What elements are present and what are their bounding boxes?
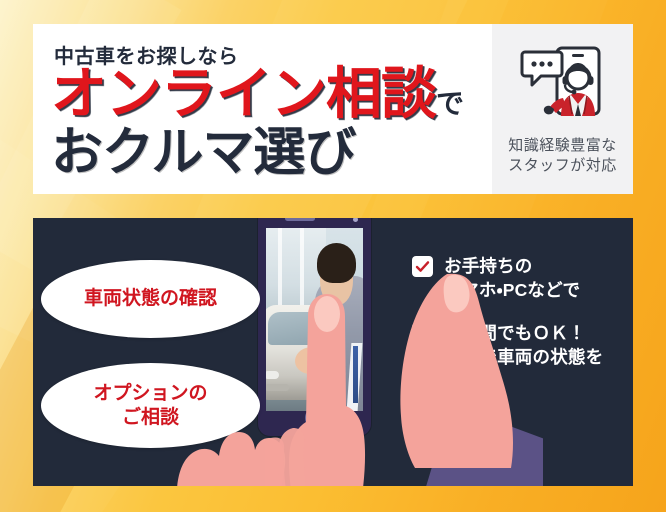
- headline-primary-tail: で: [436, 88, 464, 119]
- staff-caption: 知識経験豊富な スタッフが対応: [508, 136, 617, 177]
- promo-banner: 中古車をお探しなら オンライン相談で おクルマ選び: [0, 0, 666, 512]
- online-support-staff-icon: [517, 40, 609, 132]
- pointing-finger-illustration: [265, 286, 383, 486]
- staff-panel: 知識経験豊富な スタッフが対応: [492, 24, 633, 194]
- phone-speaker: [285, 218, 315, 221]
- header-card: 中古車をお探しなら オンライン相談で おクルマ選び: [33, 24, 633, 194]
- staff-caption-line-2: スタッフが対応: [508, 156, 617, 176]
- phone-camera-icon: [353, 218, 358, 222]
- staff-caption-line-1: 知識経験豊富な: [508, 136, 617, 156]
- headline-primary: オンライン相談で: [51, 66, 464, 122]
- feature-panel: 車両状態の確認 オプションの ご相談 お手持ちの スマホ・PCなどで 短時間でも: [33, 218, 633, 486]
- bubble-vehicle-condition: 車両状態の確認: [41, 260, 260, 338]
- headline-block: 中古車をお探しなら オンライン相談で おクルマ選び: [33, 24, 492, 194]
- headline-primary-emphasis: オンライン相談: [51, 62, 436, 125]
- headline-secondary: おクルマ選び: [51, 127, 355, 179]
